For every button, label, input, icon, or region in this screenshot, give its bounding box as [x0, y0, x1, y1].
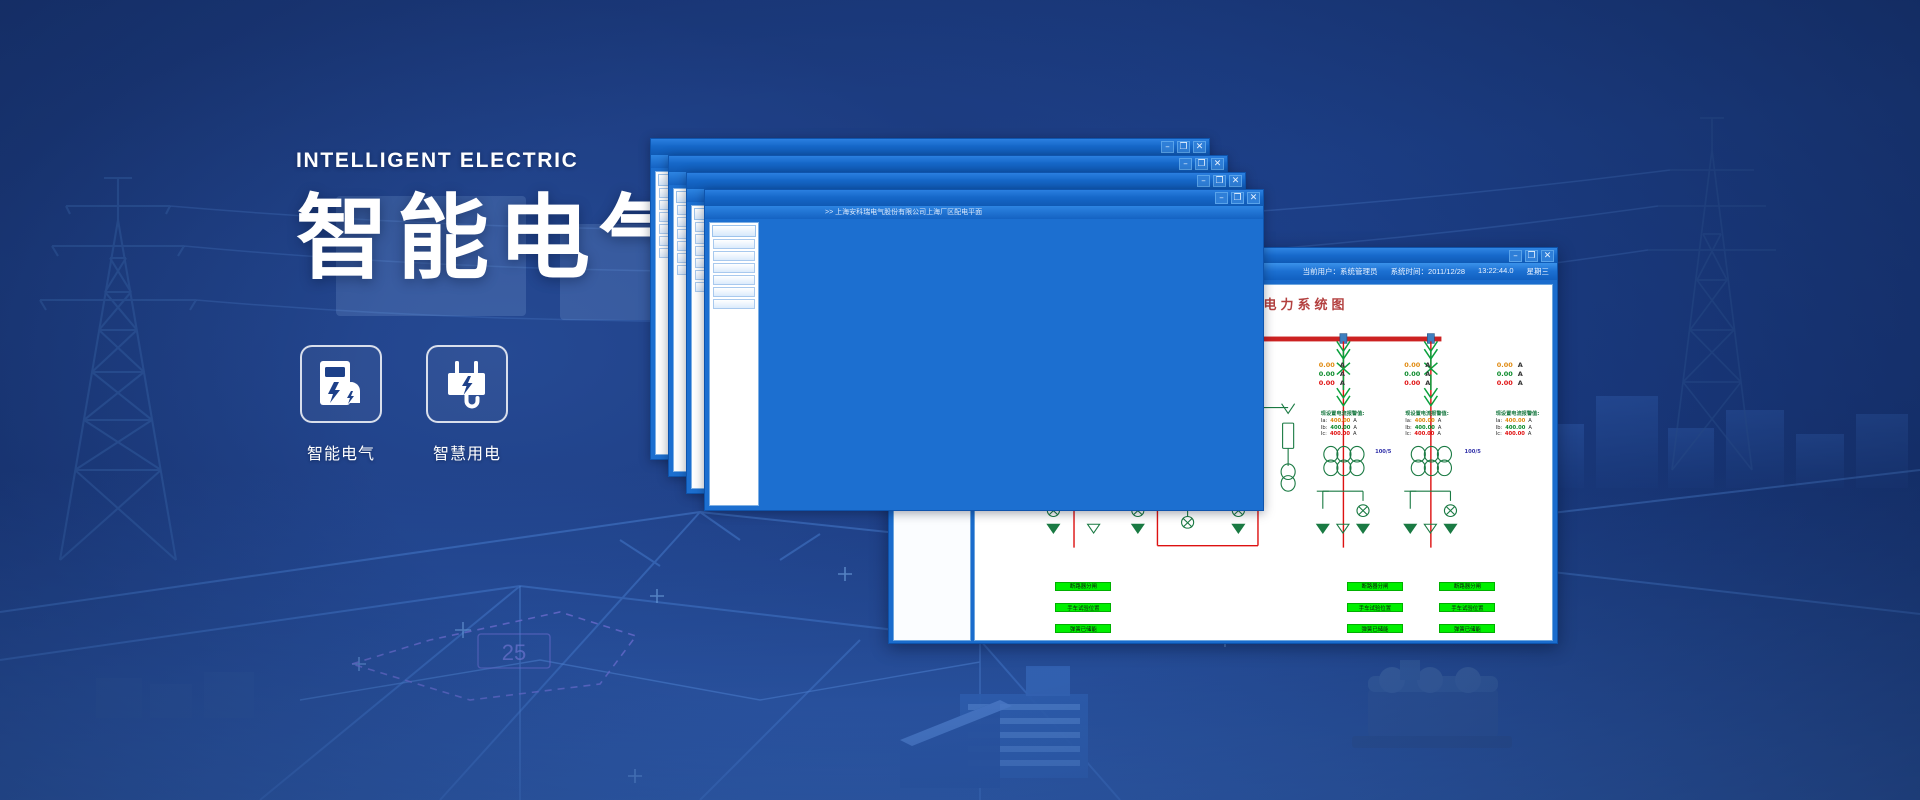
alarm-setting-row: Ic:400.00A	[1405, 431, 1449, 438]
alarm-setting-block-3: 现设置电流报警值:Ia:400.00AIb:400.00AIc:400.00A	[1321, 411, 1365, 437]
current-row: 0.00A	[1497, 361, 1523, 370]
alarm-phase-label: Ia:	[1405, 418, 1411, 425]
minimize-button[interactable]: –	[1179, 158, 1192, 170]
close-button[interactable]: ✕	[1211, 158, 1224, 170]
current-row: 0.00A	[1404, 361, 1430, 370]
window-controls[interactable]: –❐✕	[1197, 175, 1242, 187]
current-unit: A	[1518, 379, 1523, 388]
current-readout-5: 0.00A0.00A0.00A	[1497, 361, 1523, 388]
alarm-phase-label: Ib:	[1405, 425, 1412, 432]
status-badge[interactable]: 弹簧已储能	[1347, 624, 1403, 633]
current-value: 0.00	[1404, 370, 1420, 379]
alarm-phase-label: Ib:	[1321, 425, 1328, 432]
alarm-setting-unit: A	[1437, 431, 1441, 438]
background-window-4[interactable]: –❐✕>> 上海安科瑞电气股份有限公司上海厂区配电平面	[704, 189, 1264, 511]
alarm-setting-value: 400.00	[1330, 418, 1350, 425]
nav-item-1[interactable]	[713, 239, 755, 249]
current-unit: A	[1340, 361, 1345, 370]
alarm-setting-value: 400.00	[1505, 425, 1525, 432]
alarm-setting-value: 400.00	[1415, 425, 1435, 432]
status-badge[interactable]: 断路器分闸	[1347, 582, 1403, 591]
alarm-phase-label: Ic:	[1405, 431, 1411, 438]
window-titlebar[interactable]: –❐✕	[669, 156, 1227, 172]
alarm-setting-unit: A	[1528, 431, 1532, 438]
weekday-label: 星期三	[1527, 266, 1550, 277]
alarm-setting-title: 现设置电流报警值:	[1321, 411, 1365, 418]
status-badge[interactable]: 断路器分闸	[1439, 582, 1495, 591]
clock-value: 13:22:44.0	[1478, 266, 1513, 277]
alarm-setting-unit: A	[1353, 425, 1357, 432]
window-titlebar[interactable]: –❐✕	[651, 139, 1209, 155]
close-button[interactable]: ✕	[1541, 250, 1554, 262]
alarm-setting-block-5: 现设置电流报警值:Ia:400.00AIb:400.00AIc:400.00A	[1496, 411, 1540, 437]
current-user-label: 当前用户：系统管理员	[1303, 266, 1378, 277]
window-titlebar[interactable]: –❐✕	[687, 173, 1245, 189]
current-value: 0.00	[1497, 361, 1513, 370]
current-value: 0.00	[1319, 370, 1335, 379]
stacked-windows: –❐✕>> 上海安科瑞电气股份有限公司上海厂区配电平面–❐✕>> 上海安科瑞电气…	[0, 0, 1920, 800]
close-button[interactable]: ✕	[1193, 141, 1206, 153]
banner-stage: 25	[0, 0, 1920, 800]
current-value: 0.00	[1404, 361, 1420, 370]
current-value: 0.00	[1497, 379, 1513, 388]
alarm-setting-title: 现设置电流报警值:	[1405, 411, 1449, 418]
alarm-setting-row: Ib:400.00A	[1321, 425, 1365, 432]
status-badge[interactable]: 断路器分闸	[1055, 582, 1111, 591]
current-unit: A	[1425, 361, 1430, 370]
alarm-setting-row: Ia:400.00A	[1405, 418, 1449, 425]
maximize-button[interactable]: ❐	[1213, 175, 1226, 187]
alarm-setting-value: 400.00	[1330, 425, 1350, 432]
status-area: 当前用户：系统管理员 系统时间：2011/12/28 13:22:44.0 星期…	[1303, 266, 1549, 277]
alarm-phase-label: Ic:	[1321, 431, 1327, 438]
minimize-button[interactable]: –	[1161, 141, 1174, 153]
current-unit: A	[1518, 361, 1523, 370]
window-body: >> 上海安科瑞电气股份有限公司上海厂区配电平面	[705, 206, 1263, 510]
window-titlebar[interactable]: –❐✕	[705, 190, 1263, 206]
alarm-phase-label: Ia:	[1496, 418, 1502, 425]
nav-item-6[interactable]	[713, 299, 755, 309]
ct-ratio-label-3: 100/5	[1375, 449, 1391, 455]
current-unit: A	[1340, 370, 1345, 379]
status-badge[interactable]: 手车试验位置	[1055, 603, 1111, 612]
maximize-button[interactable]: ❐	[1177, 141, 1190, 153]
alarm-setting-row: Ic:400.00A	[1321, 431, 1365, 438]
nav-item-3[interactable]	[713, 263, 755, 273]
alarm-setting-row: Ia:400.00A	[1321, 418, 1365, 425]
alarm-setting-value: 400.00	[1330, 431, 1350, 438]
window-controls[interactable]: –❐✕	[1215, 192, 1260, 204]
current-unit: A	[1425, 370, 1430, 379]
minimize-button[interactable]: –	[1197, 175, 1210, 187]
alarm-setting-unit: A	[1438, 425, 1442, 432]
current-row: 0.00A	[1404, 379, 1430, 388]
current-unit: A	[1425, 379, 1430, 388]
current-value: 0.00	[1319, 379, 1335, 388]
minimize-button[interactable]: –	[1509, 250, 1522, 262]
nav-header	[712, 225, 756, 237]
alarm-setting-row: Ib:400.00A	[1496, 425, 1540, 432]
alarm-setting-unit: A	[1353, 431, 1357, 438]
close-button[interactable]: ✕	[1229, 175, 1242, 187]
minimize-button[interactable]: –	[1215, 192, 1228, 204]
status-badge[interactable]: 手车试验位置	[1347, 603, 1403, 612]
alarm-setting-value: 400.00	[1415, 418, 1435, 425]
alarm-setting-value: 400.00	[1505, 431, 1525, 438]
maximize-button[interactable]: ❐	[1231, 192, 1244, 204]
current-readout-4: 0.00A0.00A0.00A	[1404, 361, 1430, 388]
current-value: 0.00	[1497, 370, 1513, 379]
alarm-setting-title: 现设置电流报警值:	[1496, 411, 1540, 418]
alarm-setting-row: Ia:400.00A	[1496, 418, 1540, 425]
current-row: 0.00A	[1319, 370, 1345, 379]
system-time-label: 系统时间：2011/12/28	[1391, 266, 1465, 277]
current-readout-3: 0.00A0.00A0.00A	[1319, 361, 1345, 388]
alarm-setting-unit: A	[1438, 418, 1442, 425]
current-value: 0.00	[1404, 379, 1420, 388]
alarm-setting-unit: A	[1353, 418, 1357, 425]
window-controls[interactable]: –❐✕	[1161, 141, 1206, 153]
alarm-setting-unit: A	[1528, 425, 1532, 432]
current-row: 0.00A	[1319, 379, 1345, 388]
nav-item-4[interactable]	[713, 275, 755, 285]
current-unit: A	[1340, 379, 1345, 388]
alarm-setting-block-4: 现设置电流报警值:Ia:400.00AIb:400.00AIc:400.00A	[1405, 411, 1449, 437]
alarm-phase-label: Ib:	[1496, 425, 1503, 432]
current-row: 0.00A	[1497, 370, 1523, 379]
window-toolbar: >> 上海安科瑞电气股份有限公司上海厂区配电平面	[705, 206, 1263, 219]
alarm-phase-label: Ia:	[1321, 418, 1327, 425]
alarm-setting-row: Ic:400.00A	[1496, 431, 1540, 438]
alarm-setting-unit: A	[1528, 418, 1532, 425]
maximize-button[interactable]: ❐	[1195, 158, 1208, 170]
nav-item-2[interactable]	[713, 251, 755, 261]
window-controls[interactable]: –❐✕	[1179, 158, 1224, 170]
function-navigation-panel	[709, 222, 759, 506]
status-badge[interactable]: 手车试验位置	[1439, 603, 1495, 612]
alarm-setting-row: Ib:400.00A	[1405, 425, 1449, 432]
status-badge[interactable]: 弹簧已储能	[1055, 624, 1111, 633]
maximize-button[interactable]: ❐	[1525, 250, 1538, 262]
alarm-phase-label: Ic:	[1496, 431, 1502, 438]
current-row: 0.00A	[1497, 379, 1523, 388]
ct-ratio-label-4: 100/5	[1465, 449, 1481, 455]
current-value: 0.00	[1319, 361, 1335, 370]
current-unit: A	[1518, 370, 1523, 379]
breadcrumb: >> 上海安科瑞电气股份有限公司上海厂区配电平面	[825, 207, 982, 217]
alarm-setting-value: 400.00	[1505, 418, 1525, 425]
window-controls[interactable]: – ❐ ✕	[1509, 250, 1554, 262]
current-row: 0.00A	[1404, 370, 1430, 379]
close-button[interactable]: ✕	[1247, 192, 1260, 204]
current-row: 0.00A	[1319, 361, 1345, 370]
nav-item-5[interactable]	[713, 287, 755, 297]
alarm-setting-value: 400.00	[1414, 431, 1434, 438]
status-badge[interactable]: 弹簧已储能	[1439, 624, 1495, 633]
